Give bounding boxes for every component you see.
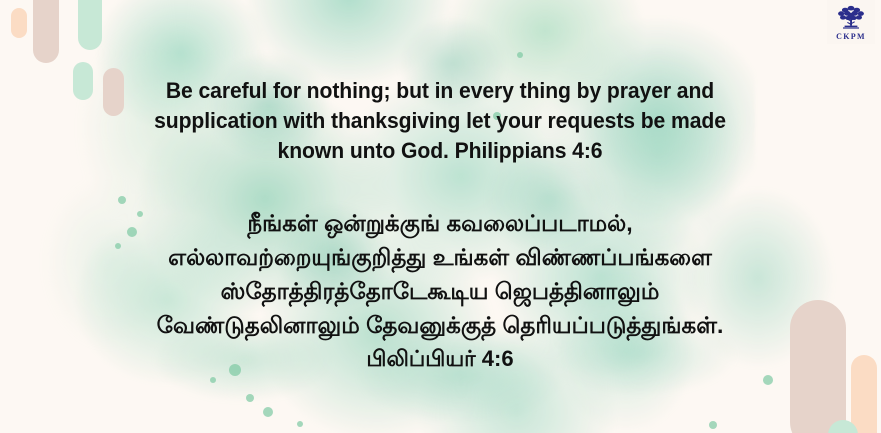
watercolor-droplet: [763, 375, 773, 385]
watercolor-droplet: [246, 394, 254, 402]
tree-logo-icon: [836, 4, 866, 32]
watercolor-droplet: [297, 421, 303, 427]
verse-tamil-line-2: எல்லாவற்றையுங்குறித்து உங்கள் விண்ணப்பங்…: [20, 240, 860, 274]
ckpm-logo: CKPM: [827, 0, 875, 44]
verse-tamil-line-4: வேண்டுதலினாலும் தேவனுக்குத் தெரியப்படுத்…: [20, 308, 860, 342]
verse-image-canvas: CKPM Be careful for nothing; but in ever…: [0, 0, 881, 433]
verse-tamil-line-3: ஸ்தோத்திரத்தோடேகூடிய ஜெபத்தினாலும்: [20, 274, 860, 308]
verse-tamil: நீங்கள் ஒன்றுக்குங் கவலைப்படாமல், எல்லாவ…: [20, 206, 860, 376]
circle-mint-bottom: [828, 420, 858, 433]
verse-tamil-reference: பிலிப்பியர் 4:6: [20, 342, 860, 376]
watercolor-droplet: [709, 421, 717, 429]
watercolor-droplet: [263, 407, 273, 417]
verse-tamil-line-1: நீங்கள் ஒன்றுக்குங் கவலைப்படாமல்,: [20, 206, 860, 240]
watercolor-droplet: [210, 377, 216, 383]
verse-english: Be careful for nothing; but in every thi…: [64, 76, 816, 166]
pill-peach-top-left: [11, 8, 27, 38]
verse-english-line-2: supplication with thanksgiving let your …: [64, 106, 816, 136]
watercolor-droplet: [118, 196, 126, 204]
verse-english-line-1: Be careful for nothing; but in every thi…: [64, 76, 816, 106]
verse-english-line-3: known unto God. Philippians 4:6: [64, 136, 816, 166]
logo-text: CKPM: [836, 33, 866, 41]
pill-pink-top-left: [33, 0, 59, 63]
watercolor-droplet: [517, 52, 523, 58]
pill-mint-top: [78, 0, 102, 50]
